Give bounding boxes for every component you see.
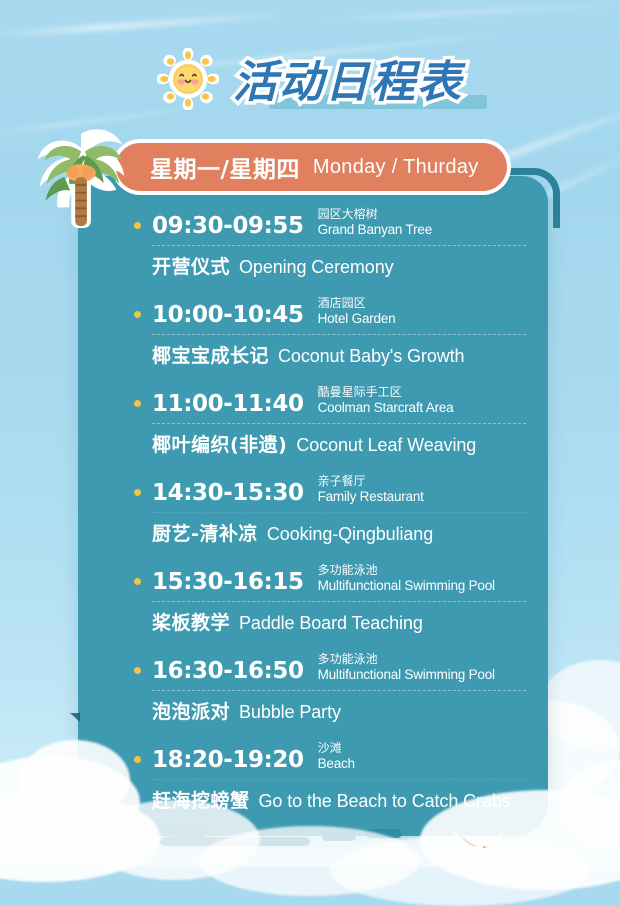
row-divider (152, 423, 526, 424)
row-divider (152, 690, 526, 691)
row-place: 园区大榕树 Grand Banyan Tree (318, 208, 432, 238)
bullet-dot-icon (134, 489, 141, 496)
row-place-cn: 园区大榕树 (318, 208, 432, 222)
row-time: 10:00-10:45 (152, 303, 304, 327)
day-banner-label-cn: 星期一/星期四 (150, 150, 300, 184)
row-event: 椰叶编织(非遗) Coconut Leaf Weaving (152, 430, 526, 457)
row-event-cn: 泡泡派对 (152, 697, 230, 724)
schedule-row[interactable]: 11:00-11:40 酷曼星际手工区 Coolman Starcraft Ar… (152, 378, 526, 467)
cloud-decoration (540, 660, 620, 750)
row-event-en: Opening Ceremony (239, 257, 394, 278)
row-event-en: Coconut Leaf Weaving (296, 435, 476, 456)
row-place: 酷曼星际手工区 Coolman Starcraft Area (318, 386, 454, 416)
cloud-decoration (560, 760, 620, 850)
row-event-cn: 赶海挖螃蟹 (152, 786, 250, 813)
sky-wisp (0, 12, 280, 40)
row-place-en: Coolman Starcraft Area (318, 400, 454, 415)
sky-wisp (300, 2, 620, 25)
bullet-dot-icon (134, 578, 141, 585)
row-time: 15:30-16:15 (152, 570, 304, 594)
schedule-row[interactable]: 16:30-16:50 多功能泳池 Multifunctional Swimmi… (152, 645, 526, 734)
row-time: 16:30-16:50 (152, 659, 304, 683)
row-divider (152, 512, 526, 513)
bullet-dot-icon (134, 311, 141, 318)
row-event-cn: 椰宝宝成长记 (152, 341, 269, 368)
schedule-row[interactable]: 09:30-09:55 园区大榕树 Grand Banyan Tree 开营仪式… (152, 200, 526, 289)
row-place: 沙滩 Beach (318, 742, 355, 772)
bullet-dot-icon (134, 667, 141, 674)
row-divider (152, 334, 526, 335)
row-event: 泡泡派对 Bubble Party (152, 697, 526, 724)
row-event-en: Paddle Board Teaching (239, 613, 423, 634)
row-time: 14:30-15:30 (152, 481, 304, 505)
row-place-en: Multifunctional Swimming Pool (318, 578, 495, 593)
day-banner-label-en: Monday / Thurday (313, 156, 479, 179)
row-place-cn: 酷曼星际手工区 (318, 386, 454, 400)
row-event-en: Go to the Beach to Catch Crabs (259, 791, 511, 812)
row-place: 多功能泳池 Multifunctional Swimming Pool (318, 653, 495, 683)
row-place: 酒店园区 Hotel Garden (318, 297, 396, 327)
schedule-row[interactable]: 14:30-15:30 亲子餐厅 Family Restaurant 厨艺-清补… (152, 467, 526, 556)
row-event-en: Cooking-Qingbuliang (267, 524, 433, 545)
row-event-cn: 椰叶编织(非遗) (152, 430, 287, 457)
row-time: 11:00-11:40 (152, 392, 304, 416)
row-place: 多功能泳池 Multifunctional Swimming Pool (318, 564, 495, 594)
wave-decoration (366, 829, 402, 838)
row-place-cn: 亲子餐厅 (318, 475, 424, 489)
wave-decoration (322, 832, 356, 841)
row-place-cn: 多功能泳池 (318, 564, 495, 578)
row-event: 赶海挖螃蟹 Go to the Beach to Catch Crabs (152, 786, 526, 813)
row-place: 亲子餐厅 Family Restaurant (318, 475, 424, 505)
bullet-dot-icon (134, 400, 141, 407)
row-place-en: Beach (318, 756, 355, 771)
palm-tree-icon (30, 126, 138, 230)
row-divider (152, 779, 526, 780)
row-event-cn: 开营仪式 (152, 252, 230, 279)
row-event-en: Coconut Baby's Growth (278, 346, 464, 367)
row-place-en: Multifunctional Swimming Pool (318, 667, 495, 682)
bullet-dot-icon (134, 756, 141, 763)
row-divider (152, 601, 526, 602)
sun-smiling-icon (157, 48, 219, 110)
wave-decoration (160, 837, 310, 846)
row-event-en: Bubble Party (239, 702, 341, 723)
row-place-cn: 沙滩 (318, 742, 355, 756)
row-time: 18:20-19:20 (152, 748, 304, 772)
schedule-row[interactable]: 18:20-19:20 沙滩 Beach 赶海挖螃蟹 Go to the Bea… (152, 734, 526, 823)
row-divider (152, 245, 526, 246)
day-banner[interactable]: 星期一/星期四 Monday / Thurday (116, 143, 507, 191)
row-place-en: Family Restaurant (318, 489, 424, 504)
page-title-text: 活动日程表 (233, 46, 463, 110)
row-time: 09:30-09:55 (152, 214, 304, 238)
row-place-en: Hotel Garden (318, 311, 396, 326)
row-place-cn: 多功能泳池 (318, 653, 495, 667)
row-event-cn: 厨艺-清补凉 (152, 519, 258, 546)
schedule-row[interactable]: 15:30-16:15 多功能泳池 Multifunctional Swimmi… (152, 556, 526, 645)
row-place-en: Grand Banyan Tree (318, 222, 432, 237)
row-event: 开营仪式 Opening Ceremony (152, 252, 526, 279)
schedule-list: 09:30-09:55 园区大榕树 Grand Banyan Tree 开营仪式… (78, 200, 548, 823)
row-place-cn: 酒店园区 (318, 297, 396, 311)
row-event: 厨艺-清补凉 Cooking-Qingbuliang (152, 519, 526, 546)
page-title: 活动日程表 (0, 46, 620, 110)
row-event-cn: 桨板教学 (152, 608, 230, 635)
schedule-row[interactable]: 10:00-10:45 酒店园区 Hotel Garden 椰宝宝成长记 Coc… (152, 289, 526, 378)
seagull-icon (448, 826, 508, 856)
row-event: 桨板教学 Paddle Board Teaching (152, 608, 526, 635)
row-event: 椰宝宝成长记 Coconut Baby's Growth (152, 341, 526, 368)
